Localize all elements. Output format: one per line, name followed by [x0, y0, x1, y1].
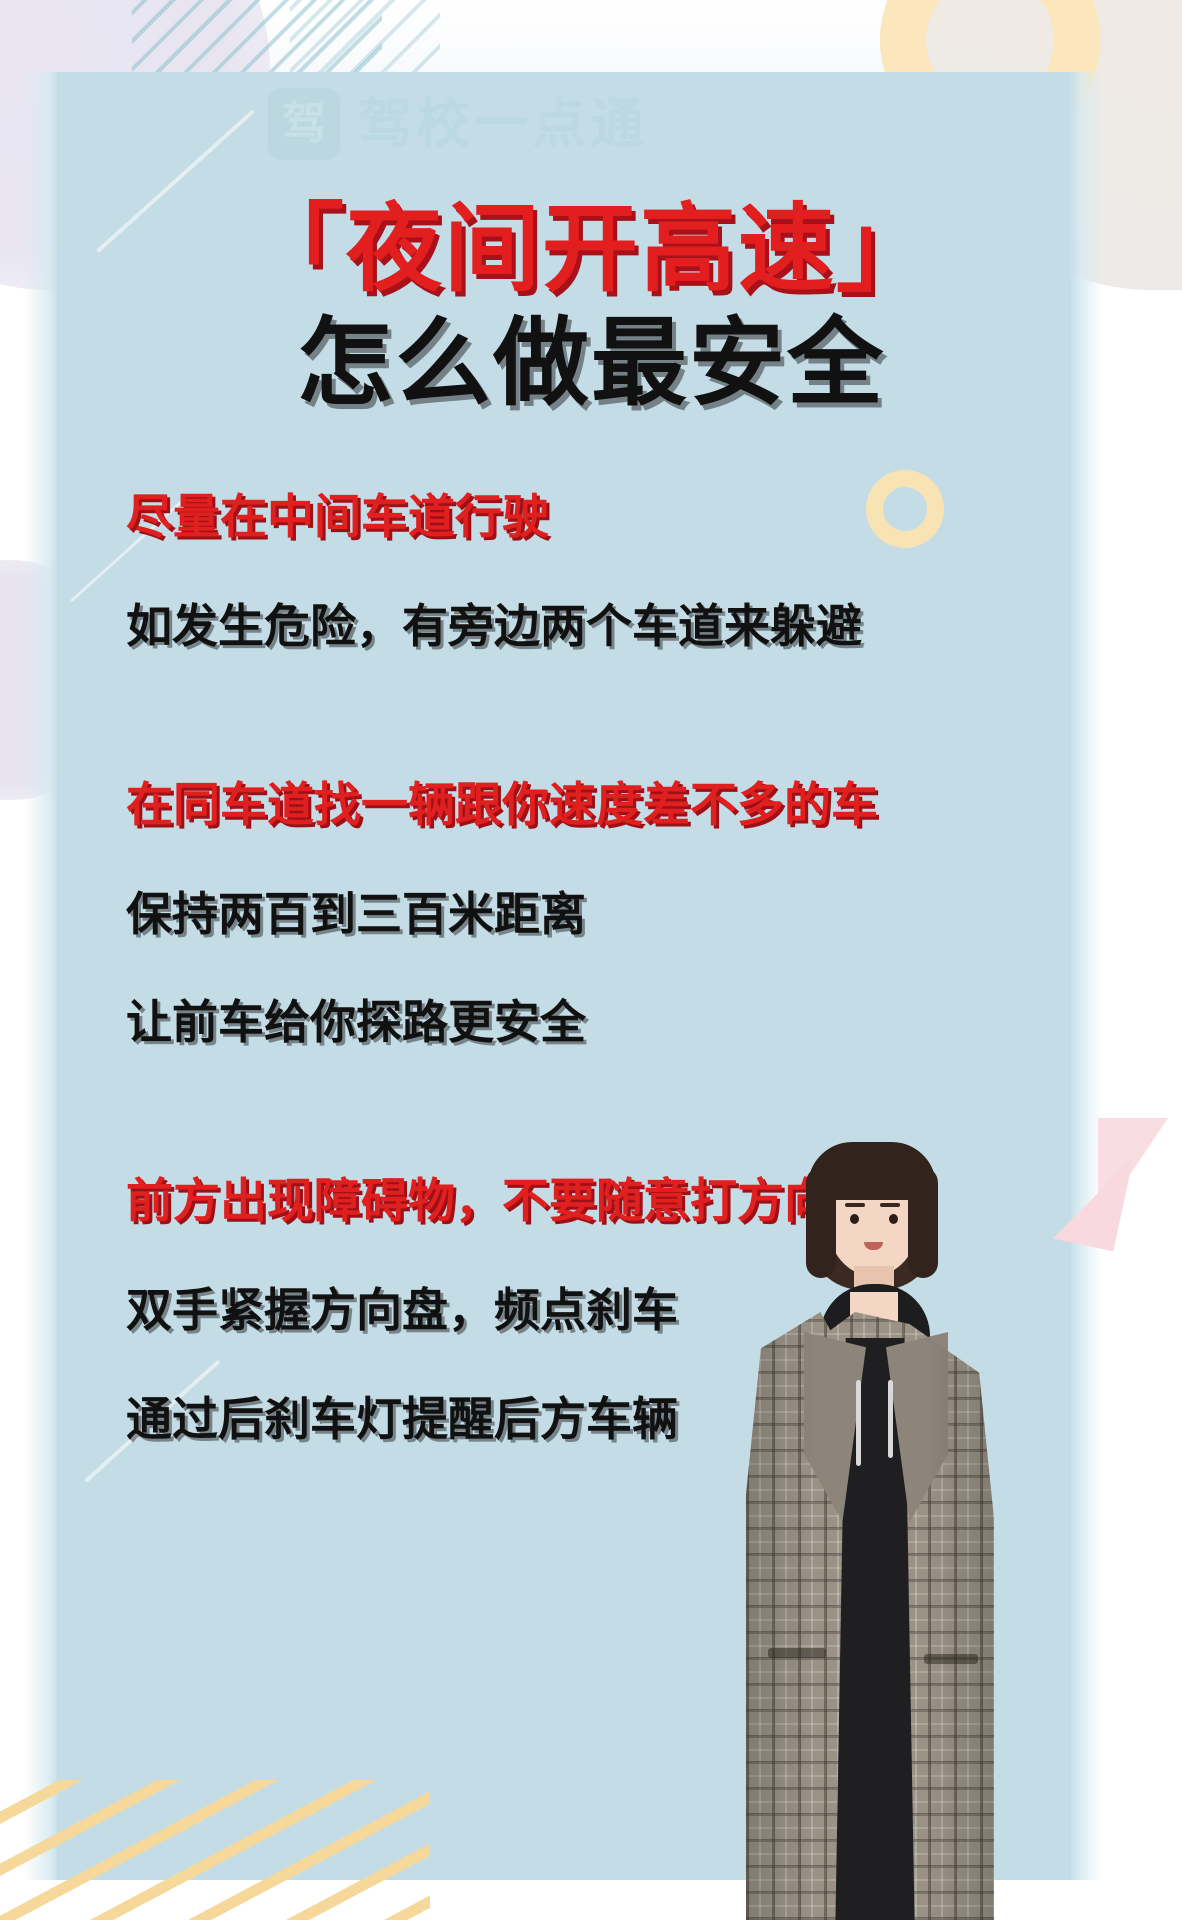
presenter-eyebrow-right — [880, 1203, 900, 1207]
presenter-coat-pocket-left — [768, 1648, 826, 1658]
title-line-2: 怎么做最安全 — [0, 310, 1182, 418]
presenter-eye-left — [850, 1214, 859, 1224]
presenter-hoodie-string-right — [888, 1380, 893, 1458]
tip-heading: 在同车道找一辆跟你速度差不多的车 — [126, 768, 1026, 843]
tip-heading: 尽量在中间车道行驶 — [126, 480, 1026, 555]
presenter-eyebrow-left — [845, 1203, 865, 1207]
presenter-coat-pocket-right — [924, 1654, 978, 1664]
decor-diagonal-hatch-top-secondary — [290, 0, 440, 80]
poster-canvas: 驾 驾校一点通 「夜间开高速」 怎么做最安全 尽量在中间车道行驶 如发生危险，有… — [0, 0, 1182, 1920]
presenter-hair-left — [806, 1166, 836, 1278]
presenter-eye-right — [889, 1214, 898, 1224]
brand-watermark: 驾 驾校一点通 — [268, 88, 648, 160]
brand-watermark-text: 驾校一点通 — [358, 97, 648, 151]
tip-section: 尽量在中间车道行驶 如发生危险，有旁边两个车道来躲避 — [126, 480, 1026, 664]
decor-yellow-stripes-bottom-left — [0, 1780, 430, 1920]
title-line-1: 「夜间开高速」 — [0, 196, 1182, 304]
tip-detail-line: 如发生危险，有旁边两个车道来躲避 — [126, 589, 1026, 664]
presenter-hair-right — [908, 1166, 938, 1278]
brand-logo-icon: 驾 — [268, 88, 340, 160]
presenter-hoodie-string-left — [856, 1380, 861, 1466]
presenter-photo — [746, 1142, 994, 1920]
poster-title: 「夜间开高速」 怎么做最安全 — [0, 196, 1182, 417]
tip-section: 在同车道找一辆跟你速度差不多的车 保持两百到三百米距离 让前车给你探路更安全 — [126, 768, 1026, 1060]
tip-detail-line: 让前车给你探路更安全 — [126, 985, 1026, 1060]
tip-detail-line: 保持两百到三百米距离 — [126, 877, 1026, 952]
